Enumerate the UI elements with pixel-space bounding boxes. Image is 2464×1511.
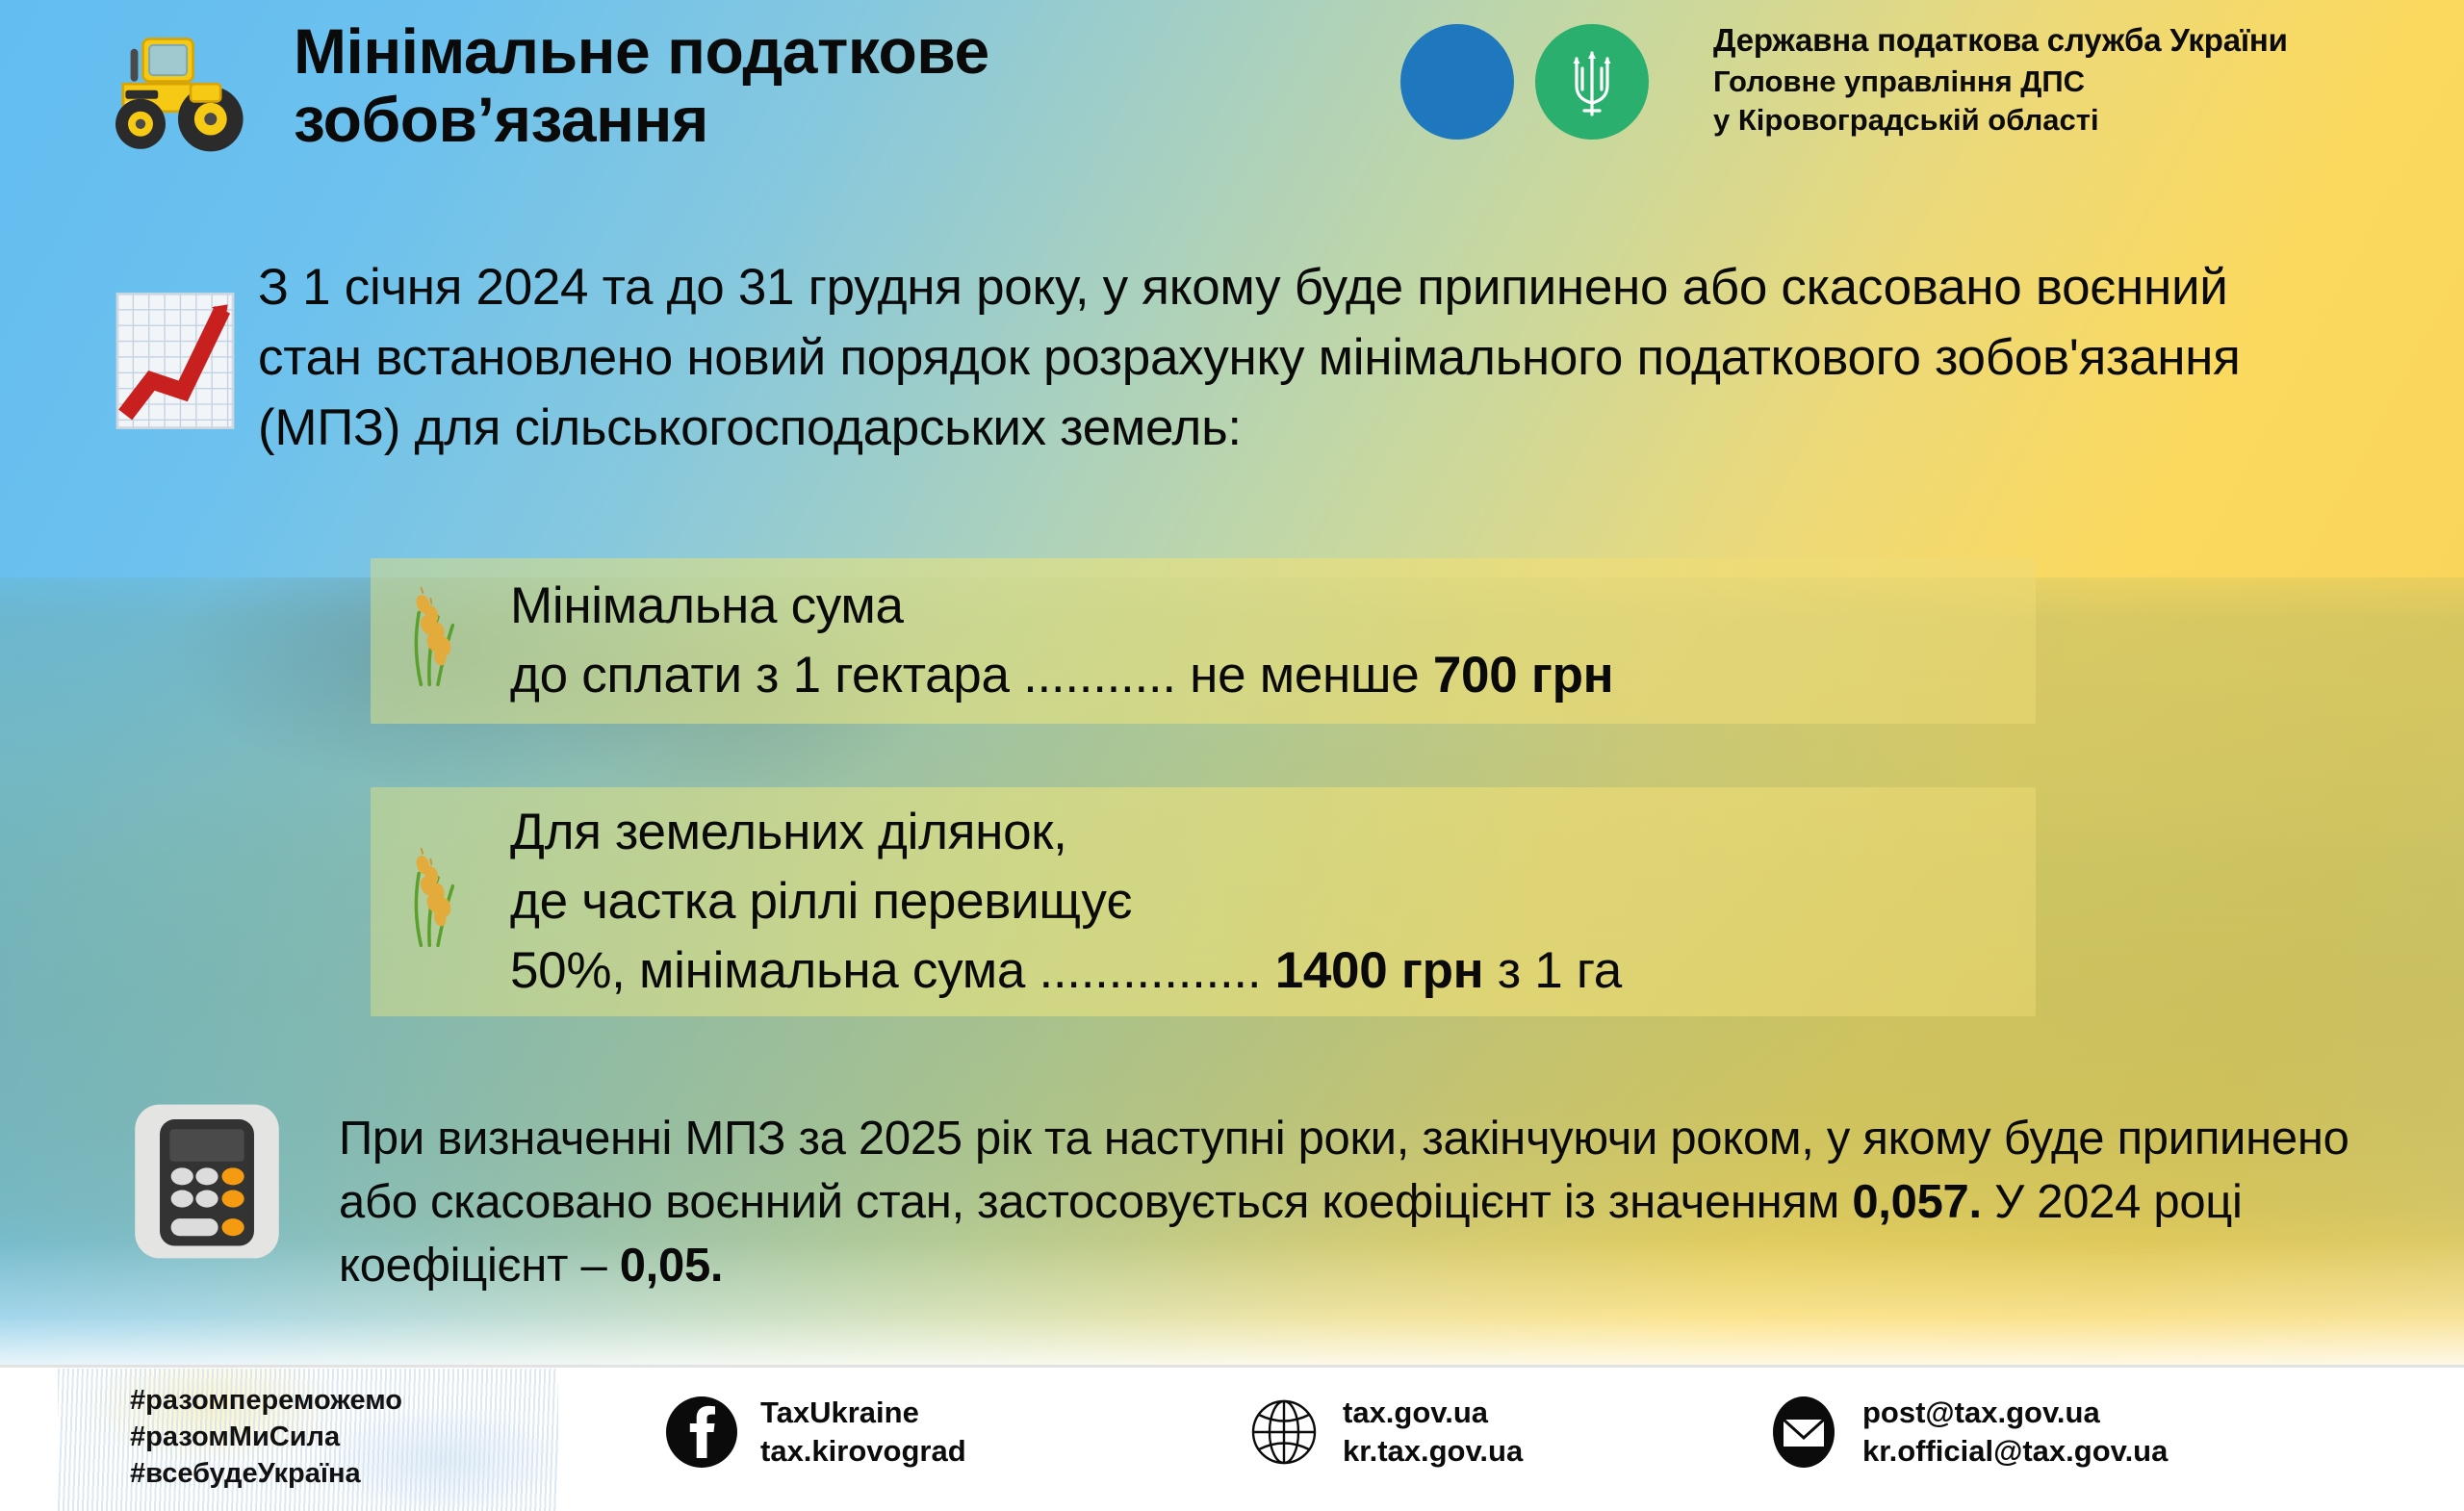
logo-oval-blue [1400,24,1514,140]
highlight-box-arable-share: Для земельних ділянок, де частка ріллі п… [371,787,2036,1016]
box1-value: 700 грн [1433,647,1614,704]
highlight-box-minimum-amount: Мінімальна сума до сплати з 1 гектара ..… [371,558,2036,724]
box1-line2-prefix: до сплати з 1 гектара [510,647,1023,704]
box2-line3-suffix: з 1 га [1483,942,1622,999]
contact-facebook[interactable]: TaxUkraine tax.kirovograd [664,1394,966,1471]
box2-line2: де частка ріллі перевищує [510,873,1132,930]
facebook-page-1: TaxUkraine [760,1394,966,1432]
organization-name: Державна податкова служба України Головн… [1713,21,2464,140]
box2-dots: ................ [1039,942,1261,999]
ukraine-trident-icon [1569,47,1615,120]
org-line-2: Головне управління ДПС [1713,63,2464,101]
intro-paragraph: З 1 січня 2024 та до 31 грудня року, у я… [258,252,2303,463]
hashtag-item: #всебудеУкраїна [130,1455,592,1492]
box2-value: 1400 грн [1275,942,1484,999]
poster-header: Мінімальне податкове зобов’язання Держ [0,0,2464,202]
box1-line1: Мінімальна сума [510,577,904,634]
footer-divider [0,1365,2464,1368]
facebook-page-2: tax.kirovograd [760,1432,966,1471]
website-1: tax.gov.ua [1343,1394,1523,1432]
email-2: kr.official@tax.gov.ua [1862,1432,2168,1471]
website-2: kr.tax.gov.ua [1343,1432,1523,1471]
wheat-icon [390,842,496,962]
email-1: post@tax.gov.ua [1862,1394,2168,1432]
page-title: Мінімальне податкове зобов’язання [294,17,1285,153]
org-line-1: Державна податкова служба України [1713,21,2464,60]
hashtag-item: #разомпереможемо [130,1382,592,1419]
calc-value-1: 0,057. [1852,1176,1981,1228]
dps-logo [1400,24,1680,140]
contact-website[interactable]: tax.gov.ua kr.tax.gov.ua [1246,1394,1523,1471]
hashtag-list: #разомпереможемо #разомМиСила #всебудеУк… [130,1382,592,1492]
envelope-icon[interactable] [1766,1395,1841,1470]
contact-facebook-lines: TaxUkraine tax.kirovograd [760,1394,966,1471]
highlight-box-2-text: Для земельних ділянок, де частка ріллі п… [510,798,1622,1006]
coefficient-paragraph: При визначенні МПЗ за 2025 рік та наступ… [339,1107,2437,1297]
box2-line1: Для земельних ділянок, [510,804,1067,860]
poster-footer: #разомпереможемо #разомМиСила #всебудеУк… [0,1365,2464,1511]
box1-dots: ........... [1023,647,1176,704]
contact-email[interactable]: post@tax.gov.ua kr.official@tax.gov.ua [1766,1394,2168,1471]
calculator-icon [130,1102,284,1261]
infographic-poster: Мінімальне податкове зобов’язання Держ [0,0,2464,1511]
contact-email-lines: post@tax.gov.ua kr.official@tax.gov.ua [1862,1394,2168,1471]
tractor-icon [91,29,265,154]
contact-website-lines: tax.gov.ua kr.tax.gov.ua [1343,1394,1523,1471]
chart-increasing-icon [108,289,243,433]
calc-value-2: 0,05. [620,1240,723,1292]
org-line-3: у Кіровоградській області [1713,101,2464,140]
hashtag-item: #разомМиСила [130,1419,592,1455]
globe-icon[interactable] [1246,1395,1322,1470]
box2-line3-prefix: 50%, мінімальна сума [510,942,1039,999]
highlight-box-1-text: Мінімальна сума до сплати з 1 гектара ..… [510,572,1613,710]
wheat-icon [390,581,496,702]
box1-line2-mid: не менше [1176,647,1433,704]
facebook-icon[interactable] [664,1395,739,1470]
